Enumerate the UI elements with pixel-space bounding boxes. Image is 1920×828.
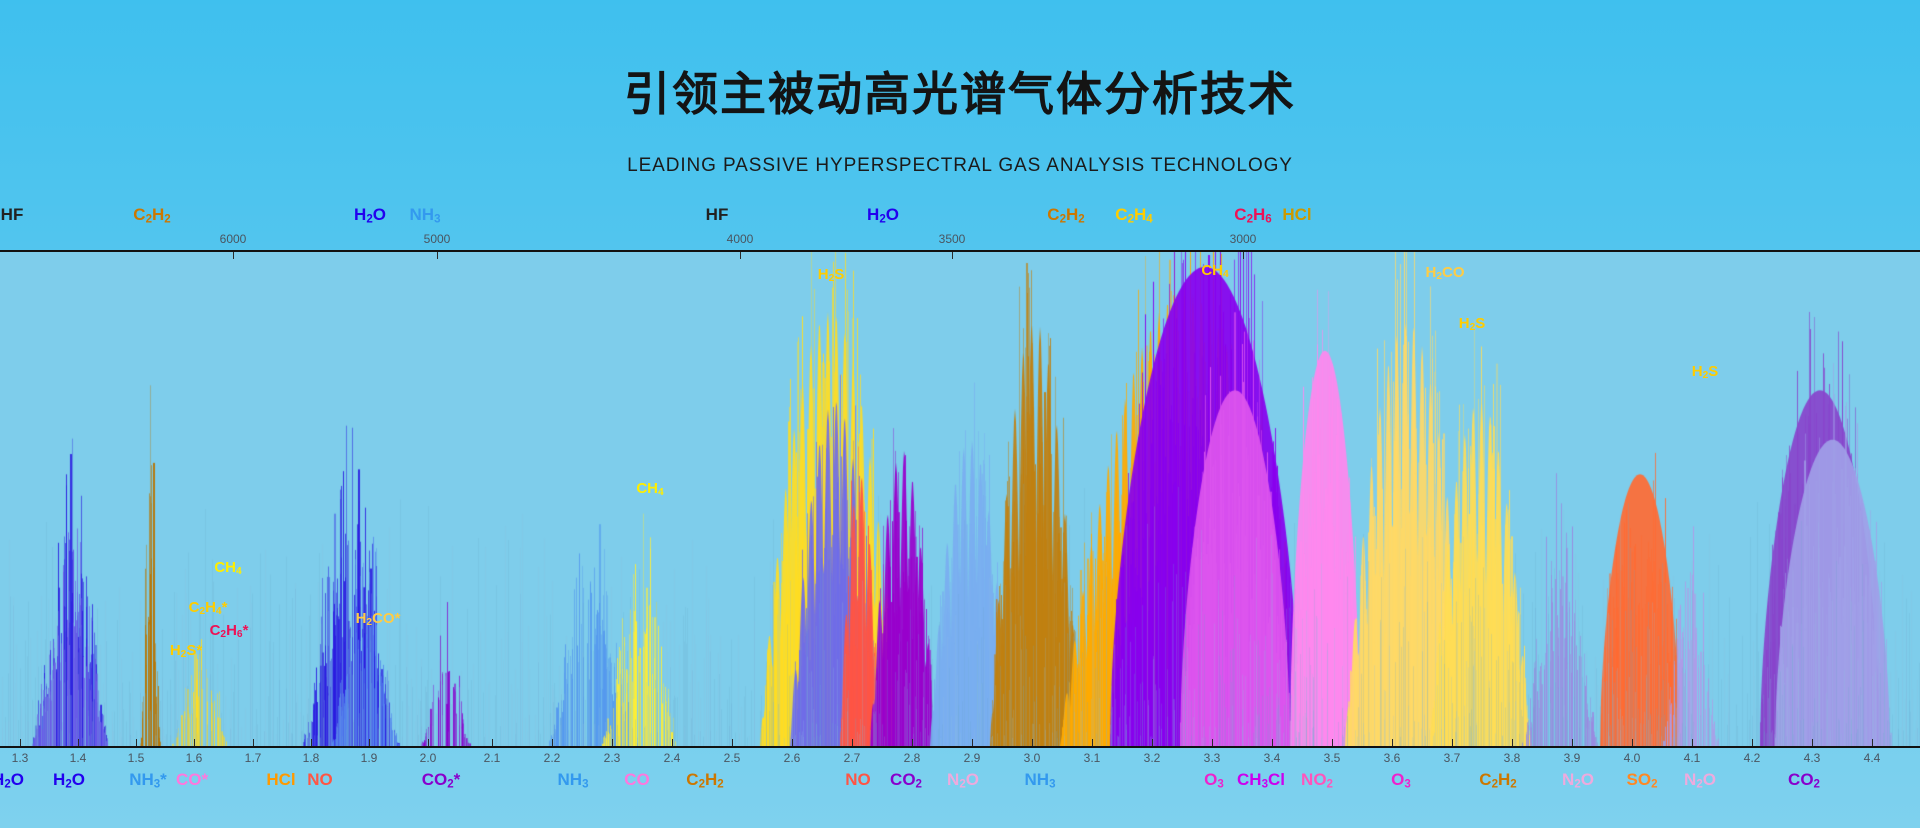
axis-tick-label: 4.1 — [1684, 751, 1701, 765]
axis-tick — [1092, 739, 1093, 746]
gas-label: NH3* — [129, 770, 167, 791]
spectrum-plot — [0, 252, 1920, 746]
spectrum-canvas — [0, 252, 1920, 746]
axis-tick-label: 2.3 — [604, 751, 621, 765]
axis-tick — [732, 739, 733, 746]
gas-label: H2O — [0, 770, 24, 791]
axis-tick — [369, 739, 370, 746]
axis-tick — [428, 739, 429, 746]
axis-tick — [952, 252, 953, 259]
gas-label: N2O — [1684, 770, 1716, 791]
axis-tick — [233, 252, 234, 259]
gas-label: CO — [624, 770, 650, 790]
axis-tick — [740, 252, 741, 259]
gas-label: C2H2 — [133, 205, 170, 226]
axis-tick — [1812, 739, 1813, 746]
axis-tick-label: 1.8 — [303, 751, 320, 765]
axis-tick-label: 1.3 — [12, 751, 29, 765]
axis-tick-label: 5000 — [424, 232, 451, 246]
axis-tick — [78, 739, 79, 746]
axis-tick-label: 1.4 — [70, 751, 87, 765]
axis-tick-label: 3.7 — [1444, 751, 1461, 765]
gas-label: H2O — [53, 770, 85, 791]
gas-label: HCl — [1282, 205, 1311, 225]
axis-tick — [1632, 739, 1633, 746]
gas-label: CH3Cl — [1237, 770, 1285, 791]
axis-tick-label: 3.0 — [1024, 751, 1041, 765]
gas-label: CO2 — [1788, 770, 1820, 791]
gas-label: NH3 — [1025, 770, 1056, 791]
bottom-axis-line — [0, 746, 1920, 748]
axis-tick — [1512, 739, 1513, 746]
gas-label: C2H4 — [1115, 205, 1152, 226]
axis-tick-label: 2.6 — [784, 751, 801, 765]
axis-tick-label: 3.9 — [1564, 751, 1581, 765]
gas-label: CO2 — [890, 770, 922, 791]
axis-tick-label: 3000 — [1230, 232, 1257, 246]
gas-label: C2H2 — [1047, 205, 1084, 226]
axis-tick-label: 1.5 — [128, 751, 145, 765]
axis-tick-label: 4.3 — [1804, 751, 1821, 765]
gas-label: NO — [307, 770, 333, 790]
axis-tick-label: 2.0 — [420, 751, 437, 765]
axis-tick — [492, 739, 493, 746]
gas-label: HF — [706, 205, 729, 225]
axis-tick — [552, 739, 553, 746]
axis-tick — [1752, 739, 1753, 746]
axis-tick — [1212, 739, 1213, 746]
axis-tick — [912, 739, 913, 746]
axis-tick-label: 6000 — [220, 232, 247, 246]
axis-tick — [1872, 739, 1873, 746]
axis-tick — [1572, 739, 1573, 746]
gas-label: N2O — [947, 770, 979, 791]
gas-label: O3 — [1391, 770, 1411, 791]
axis-tick-label: 2.7 — [844, 751, 861, 765]
axis-tick — [437, 252, 438, 259]
axis-tick-label: 1.9 — [361, 751, 378, 765]
axis-tick-label: 3.4 — [1264, 751, 1281, 765]
axis-tick — [1332, 739, 1333, 746]
axis-tick — [1452, 739, 1453, 746]
axis-tick — [672, 739, 673, 746]
header: 引领主被动高光谱气体分析技术 LEADING PASSIVE HYPERSPEC… — [0, 0, 1920, 200]
axis-tick — [1272, 739, 1273, 746]
axis-tick — [136, 739, 137, 746]
gas-label: NH3 — [558, 770, 589, 791]
axis-tick-label: 3500 — [939, 232, 966, 246]
axis-tick — [972, 739, 973, 746]
top-axis-line — [0, 250, 1920, 252]
axis-tick-label: 2.5 — [724, 751, 741, 765]
gas-label: NH3 — [410, 205, 441, 226]
axis-tick-label: 4000 — [727, 232, 754, 246]
axis-tick — [253, 739, 254, 746]
axis-tick — [612, 739, 613, 746]
axis-tick-label: 3.8 — [1504, 751, 1521, 765]
gas-label: C2H2 — [1479, 770, 1516, 791]
axis-tick-label: 3.3 — [1204, 751, 1221, 765]
gas-label: N2O — [1562, 770, 1594, 791]
axis-tick-label: 2.9 — [964, 751, 981, 765]
gas-label: NO2 — [1301, 770, 1333, 791]
axis-tick-label: 2.4 — [664, 751, 681, 765]
axis-tick — [1032, 739, 1033, 746]
axis-tick-label: 2.8 — [904, 751, 921, 765]
axis-tick-label: 1.7 — [245, 751, 262, 765]
gas-label: C2H2 — [686, 770, 723, 791]
gas-label: HCl — [266, 770, 295, 790]
axis-tick-label: 3.2 — [1144, 751, 1161, 765]
axis-tick-label: 1.6 — [186, 751, 203, 765]
axis-tick-label: 2.1 — [484, 751, 501, 765]
axis-tick-label: 4.2 — [1744, 751, 1761, 765]
gas-label: O3 — [1204, 770, 1224, 791]
axis-tick — [1152, 739, 1153, 746]
page-root: 引领主被动高光谱气体分析技术 LEADING PASSIVE HYPERSPEC… — [0, 0, 1920, 828]
axis-tick-label: 2.2 — [544, 751, 561, 765]
gas-label: CO2* — [422, 770, 461, 791]
axis-tick — [20, 739, 21, 746]
axis-tick-label: 4.0 — [1624, 751, 1641, 765]
gas-label: NO — [845, 770, 871, 790]
gas-label: CO* — [176, 770, 208, 790]
gas-label: SO2 — [1627, 770, 1658, 791]
axis-tick-label: 3.6 — [1384, 751, 1401, 765]
axis-tick — [1392, 739, 1393, 746]
axis-tick — [1243, 252, 1244, 259]
axis-tick — [852, 739, 853, 746]
page-subtitle: LEADING PASSIVE HYPERSPECTRAL GAS ANALYS… — [0, 155, 1920, 177]
axis-tick — [1692, 739, 1693, 746]
axis-tick-label: 3.1 — [1084, 751, 1101, 765]
gas-label: H2O — [354, 205, 386, 226]
gas-label: H2O — [867, 205, 899, 226]
axis-tick — [311, 739, 312, 746]
gas-label: HF — [1, 205, 24, 225]
axis-tick — [792, 739, 793, 746]
page-title: 引领主被动高光谱气体分析技术 — [0, 58, 1920, 124]
axis-tick — [194, 739, 195, 746]
axis-tick-label: 4.4 — [1864, 751, 1881, 765]
gas-label: C2H6 — [1234, 205, 1271, 226]
axis-tick-label: 3.5 — [1324, 751, 1341, 765]
